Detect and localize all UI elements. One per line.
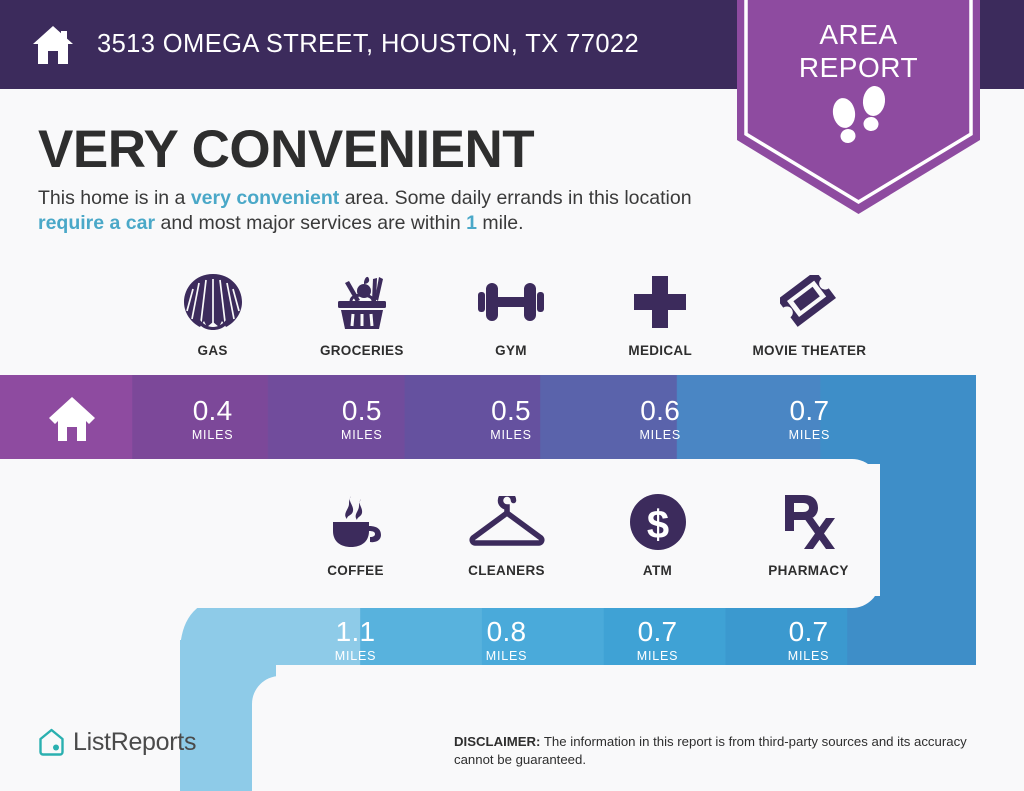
amenity-pharmacy: PHARMACY (733, 492, 884, 578)
distance-cell: 0.7 MILES (582, 596, 733, 685)
amenity-label: ATM (643, 563, 672, 578)
distance-unit: MILES (486, 648, 528, 664)
distance-cell: 0.4 MILES (138, 375, 287, 464)
disclaimer-label: DISCLAIMER: (454, 734, 540, 749)
distance-value: 0.8 (487, 617, 527, 647)
amenity-gas: GAS (138, 272, 287, 358)
distance-unit: MILES (637, 648, 679, 664)
amenity-label: MOVIE THEATER (752, 343, 866, 358)
amenity-gym: GYM (436, 272, 585, 358)
distance-unit: MILES (639, 427, 681, 443)
distance-value: 0.6 (640, 396, 680, 426)
rx-icon (782, 492, 836, 552)
amenity-icon-row-1: GAS (138, 272, 884, 358)
amenity-cleaners: CLEANERS (431, 492, 582, 578)
dumbbell-icon (478, 272, 544, 332)
distance-value: 0.5 (491, 396, 531, 426)
distance-value: 0.7 (638, 617, 678, 647)
movie-ticket-icon (780, 272, 838, 332)
svg-text:$: $ (646, 503, 668, 547)
grocery-basket-icon (332, 272, 392, 332)
amenity-groceries: GROCERIES (287, 272, 436, 358)
distance-row-1: 0.4 MILES 0.5 MILES 0.5 MILES 0.6 MILES … (138, 375, 884, 464)
distance-value: 0.4 (193, 396, 233, 426)
distance-cell: 0.5 MILES (287, 375, 436, 464)
amenity-atm: $ ATM (582, 492, 733, 578)
distance-unit: MILES (789, 427, 831, 443)
distance-unit: MILES (788, 648, 830, 664)
listreports-house-icon (38, 728, 65, 757)
distance-unit: MILES (192, 427, 234, 443)
distance-value: 0.5 (342, 396, 382, 426)
distance-unit: MILES (341, 427, 383, 443)
listreports-logo: ListReports (38, 728, 196, 757)
distance-cell: 0.7 MILES (733, 596, 884, 685)
amenity-label: CLEANERS (468, 563, 545, 578)
distance-unit: MILES (490, 427, 532, 443)
distance-value: 0.7 (790, 396, 830, 426)
amenity-label: MEDICAL (628, 343, 692, 358)
amenity-label: GYM (495, 343, 527, 358)
amenity-medical: MEDICAL (586, 272, 735, 358)
distance-cell: 0.6 MILES (586, 375, 735, 464)
distance-value: 0.7 (789, 617, 829, 647)
amenity-label: GROCERIES (320, 343, 404, 358)
distance-row-2: 1.1 MILES 0.8 MILES 0.7 MILES 0.7 MILES (280, 596, 884, 685)
distance-cell: 0.7 MILES (735, 375, 884, 464)
gas-shell-icon (182, 272, 244, 332)
listreports-logo-text: ListReports (73, 728, 196, 757)
amenity-label: COFFEE (327, 563, 384, 578)
distance-unit: MILES (335, 648, 377, 664)
area-report-badge: AREA REPORT (737, 0, 980, 214)
medical-cross-icon (634, 272, 686, 332)
distance-cell: 0.8 MILES (431, 596, 582, 685)
coffee-cup-icon (327, 492, 385, 552)
distance-value: 1.1 (336, 617, 376, 647)
amenity-coffee: COFFEE (280, 492, 431, 578)
area-report-infographic: 3513 OMEGA STREET, HOUSTON, TX 77022 ARE… (0, 0, 1024, 791)
amenity-label: GAS (198, 343, 228, 358)
amenity-label: PHARMACY (768, 563, 848, 578)
distance-cell: 0.5 MILES (436, 375, 585, 464)
badge-body (737, 0, 980, 214)
dollar-circle-icon: $ (629, 492, 687, 552)
distance-cell: 1.1 MILES (280, 596, 431, 685)
amenity-movie-theater: MOVIE THEATER (735, 272, 884, 358)
hanger-icon (467, 492, 547, 552)
home-marker-icon (46, 393, 98, 445)
amenity-icon-row-2: COFFEE CLEANERS $ ATM (280, 492, 884, 578)
disclaimer: DISCLAIMER: The information in this repo… (454, 733, 994, 769)
